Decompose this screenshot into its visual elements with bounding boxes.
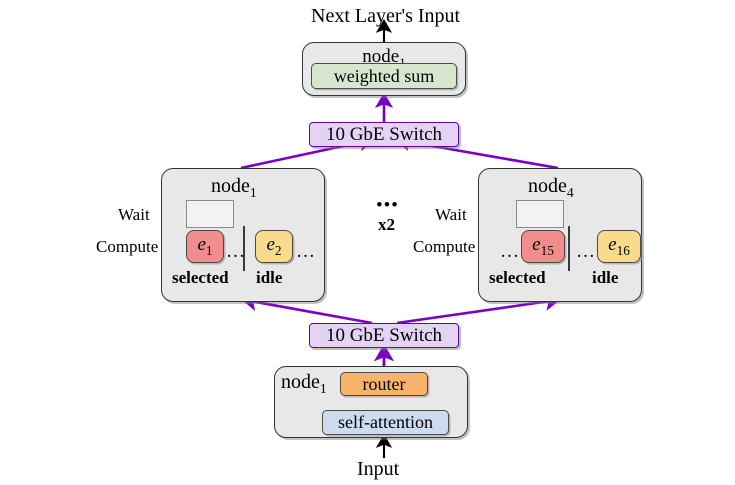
wait-label-right: Wait [435,206,467,223]
expert-node-1-name: node [211,175,250,197]
bottom-node-index: 1 [320,381,327,396]
node-1-column-divider [243,226,245,271]
replicate-count-label: x2 [378,216,395,233]
bottom-node-title: node1 [281,372,327,396]
expert-e2-prefix: e [266,234,274,255]
expert-node-4-title: node4 [528,176,574,200]
expert-e2-idle[interactable]: e2 [255,230,293,263]
expert-e16-index: 16 [617,243,630,258]
replicate-dots: ••• [376,196,399,215]
upper-switch-label: 10 GbE Switch [326,124,442,146]
expert-e1-index: 1 [206,243,213,258]
router-block[interactable]: router [340,372,428,396]
compute-label-right: Compute [413,238,475,255]
selected-state-left: selected [172,269,229,286]
next-layer-input-label: Next Layer's Input [311,6,460,26]
lower-10gbe-switch[interactable]: 10 GbE Switch [309,323,459,348]
expert-e1-selected[interactable]: e1 [186,230,224,263]
idle-ellipsis-right: … [576,242,596,261]
selected-ellipsis-right: … [500,242,520,261]
expert-e1-label: e1 [197,234,212,259]
weighted-sum-block[interactable]: weighted sum [311,63,457,89]
wait-hatch-right [516,200,564,228]
expert-e15-index: 15 [541,243,554,258]
input-label: Input [357,459,399,479]
weighted-sum-label: weighted sum [334,66,435,87]
expert-node-1-index: 1 [250,185,257,200]
expert-e16-label: e16 [608,234,630,259]
compute-label-left: Compute [96,238,158,255]
bottom-node-name: node [281,371,320,393]
node-4-column-divider [568,226,570,271]
expert-e2-index: 2 [275,243,282,258]
expert-e15-selected[interactable]: e15 [521,230,565,263]
self-attention-block[interactable]: self-attention [322,410,449,435]
expert-e1-prefix: e [197,234,205,255]
diagram-canvas: Next Layer's Input node1 weighted sum 10… [0,0,735,485]
expert-e16-idle[interactable]: e16 [597,230,641,263]
expert-e16-prefix: e [608,234,616,255]
idle-ellipsis-left: … [296,242,316,261]
wait-hatch-left [186,200,234,228]
expert-e15-prefix: e [532,234,540,255]
expert-node-4-index: 4 [567,185,574,200]
expert-node-4-name: node [528,175,567,197]
idle-state-right: idle [592,269,618,286]
expert-e15-label: e15 [532,234,554,259]
idle-state-left: idle [256,269,282,286]
wait-label-left: Wait [118,206,150,223]
router-label: router [363,374,406,395]
lower-switch-label: 10 GbE Switch [326,325,442,347]
selected-state-right: selected [489,269,546,286]
expert-e2-label: e2 [266,234,281,259]
expert-node-1-title: node1 [211,176,257,200]
self-attention-label: self-attention [338,412,433,433]
upper-10gbe-switch[interactable]: 10 GbE Switch [309,122,459,147]
